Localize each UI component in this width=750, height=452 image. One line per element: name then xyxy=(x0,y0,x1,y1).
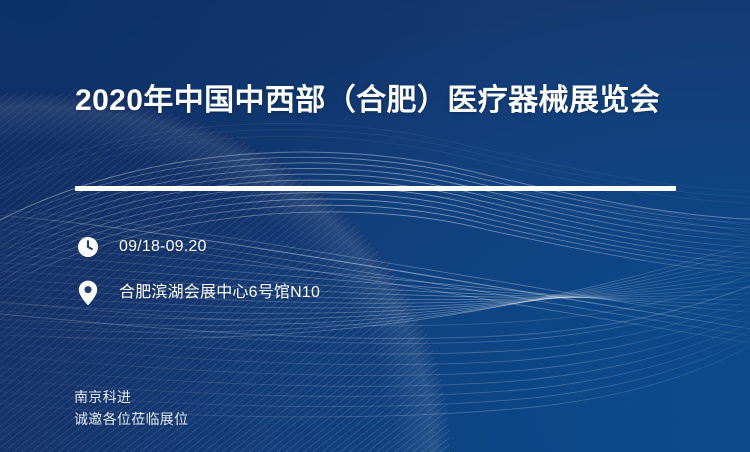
event-details: 09/18-09.20 合肥滨湖会展中心6号馆N10 xyxy=(75,232,320,308)
banner-content: 2020年中国中西部（合肥）医疗器械展览会 09/18-09.20 xyxy=(0,0,750,452)
event-location-row: 合肥滨湖会展中心6号馆N10 xyxy=(75,278,320,308)
title-divider xyxy=(75,186,676,191)
organizer-invitation: 诚邀各位莅临展位 xyxy=(74,408,188,430)
organizer-name: 南京科进 xyxy=(74,386,188,408)
page-title: 2020年中国中西部（合肥）医疗器械展览会 xyxy=(75,80,685,121)
event-date-text: 09/18-09.20 xyxy=(119,237,207,257)
event-location-text: 合肥滨湖会展中心6号馆N10 xyxy=(119,283,320,303)
event-date-row: 09/18-09.20 xyxy=(75,232,320,262)
clock-icon xyxy=(75,232,101,262)
organizer-footer: 南京科进 诚邀各位莅临展位 xyxy=(74,386,188,430)
event-banner: 2020年中国中西部（合肥）医疗器械展览会 09/18-09.20 xyxy=(0,0,750,452)
location-pin-icon xyxy=(75,278,101,308)
